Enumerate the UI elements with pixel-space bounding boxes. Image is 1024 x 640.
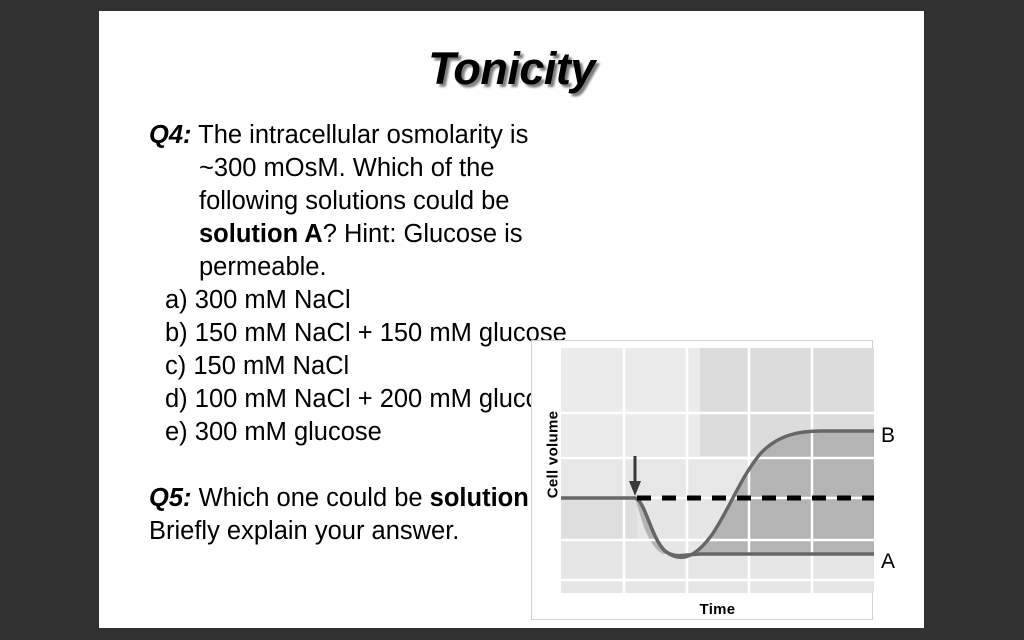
curve-label-a: A: [881, 550, 895, 574]
plot-highlight-block: [561, 348, 700, 456]
chart-plot-area: [561, 348, 874, 593]
option-b[interactable]: b) 150 mM NaCl + 150 mM glucose: [165, 317, 569, 350]
q5-followup-instruction: Briefly explain your answer.: [149, 515, 569, 548]
option-d[interactable]: d) 100 mM NaCl + 200 mM glucose: [165, 383, 569, 416]
q4-text-before-bold: The intracellular osmolarity is ~300 mOs…: [192, 121, 529, 215]
question-q4: Q4: The intracellular osmolarity is ~300…: [149, 119, 569, 284]
q4-tag: Q4:: [149, 121, 192, 149]
question-q5: Q5: Which one could be solution B?: [149, 482, 569, 515]
option-a[interactable]: a) 300 mM NaCl: [165, 284, 569, 317]
cell-volume-chart: Cell volume Time: [531, 340, 875, 622]
slide-canvas: Tonicity Q4: The intracellular osmolarit…: [99, 11, 924, 628]
question-text-column: Q4: The intracellular osmolarity is ~300…: [149, 119, 569, 548]
q5-tag: Q5:: [149, 484, 192, 512]
curve-label-b: B: [881, 424, 895, 448]
option-e[interactable]: e) 300 mM glucose: [165, 416, 569, 449]
option-c[interactable]: c) 150 mM NaCl: [165, 350, 569, 383]
q5-text-before-bold: Which one could be: [192, 484, 430, 512]
page-title: Tonicity: [99, 43, 924, 95]
q4-bold-phrase: solution A: [199, 220, 323, 248]
plot-left-lower-block: [561, 498, 637, 540]
chart-y-axis-label: Cell volume: [545, 400, 562, 510]
chart-x-axis-label: Time: [561, 601, 874, 618]
answer-options-list: a) 300 mM NaCl b) 150 mM NaCl + 150 mM g…: [149, 284, 569, 449]
